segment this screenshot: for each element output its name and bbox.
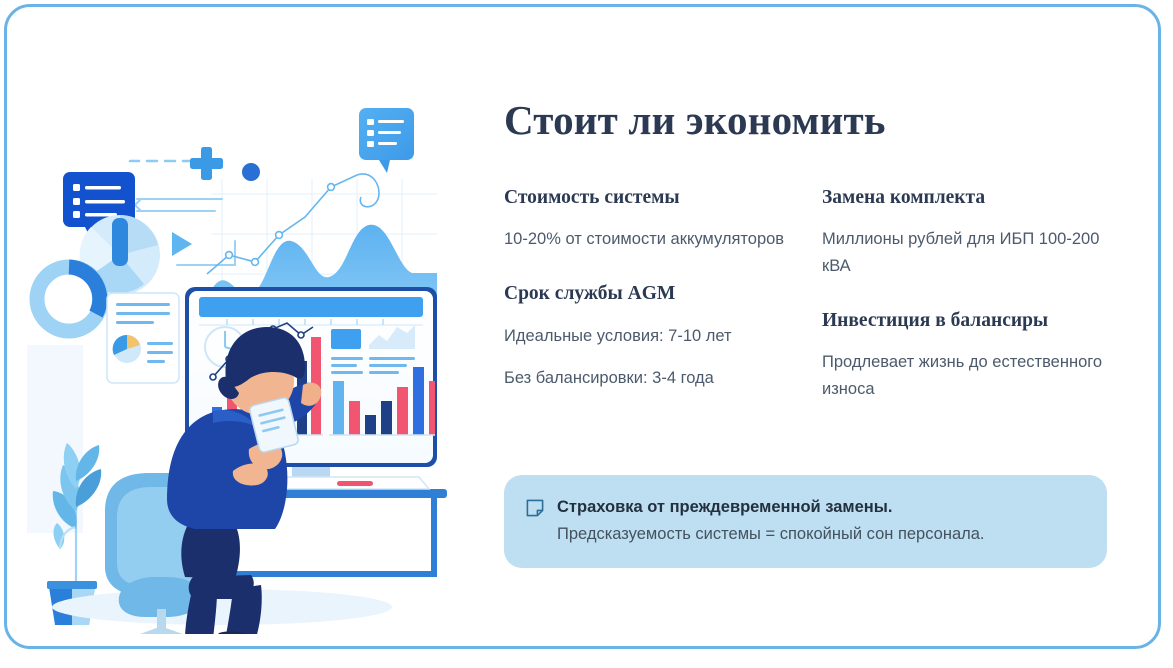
donut-chart bbox=[37, 267, 101, 331]
feature-heading: Замена комплекта bbox=[822, 186, 1116, 209]
feature-columns: Стоимость системы 10-20% от стоимости ак… bbox=[504, 186, 1116, 408]
dot-decoration bbox=[242, 163, 260, 181]
feature-heading: Стоимость системы bbox=[504, 186, 798, 209]
play-icon bbox=[172, 232, 192, 256]
column-left: Стоимость системы 10-20% от стоимости ак… bbox=[504, 186, 798, 408]
feature-body: Миллионы рублей для ИБП 100-200 кВА bbox=[822, 226, 1116, 279]
note-icon bbox=[526, 499, 544, 517]
feature-heading: Инвестиция в балансиры bbox=[822, 309, 1116, 332]
callout-text: Страховка от преждевременной замены. Пре… bbox=[557, 497, 1081, 546]
plus-icon bbox=[190, 147, 223, 180]
feature-body: Продлевает жизнь до естественного износа bbox=[822, 349, 1116, 402]
slide-frame: Стоит ли экономить Стоимость системы 10-… bbox=[4, 4, 1161, 649]
column-right: Замена комплекта Миллионы рублей для ИБП… bbox=[822, 186, 1116, 408]
page-title: Стоит ли экономить bbox=[504, 99, 1116, 142]
feature-body: Идеальные условия: 7-10 лет bbox=[504, 323, 798, 350]
feature-body: 10-20% от стоимости аккумуляторов bbox=[504, 226, 798, 253]
callout-title: Страховка от преждевременной замены. bbox=[557, 497, 1081, 518]
business-analytics-illustration bbox=[17, 29, 467, 634]
feature-block-cost: Стоимость системы 10-20% от стоимости ак… bbox=[504, 186, 798, 253]
callout-box: Страховка от преждевременной замены. Пре… bbox=[504, 475, 1107, 568]
content-area: Стоит ли экономить Стоимость системы 10-… bbox=[504, 99, 1116, 408]
report-card bbox=[107, 293, 179, 383]
chat-bubble-light bbox=[359, 108, 414, 173]
callout-subtitle: Предсказуемость системы = спокойный сон … bbox=[557, 523, 1081, 545]
feature-heading: Срок службы AGM bbox=[504, 282, 798, 305]
feature-block-investment: Инвестиция в балансиры Продлевает жизнь … bbox=[822, 309, 1116, 403]
feature-block-agm-lifetime: Срок службы AGM Идеальные условия: 7-10 … bbox=[504, 282, 798, 392]
feature-body-secondary: Без балансировки: 3-4 года bbox=[504, 365, 798, 392]
feature-block-replacement: Замена комплекта Миллионы рублей для ИБП… bbox=[822, 186, 1116, 280]
